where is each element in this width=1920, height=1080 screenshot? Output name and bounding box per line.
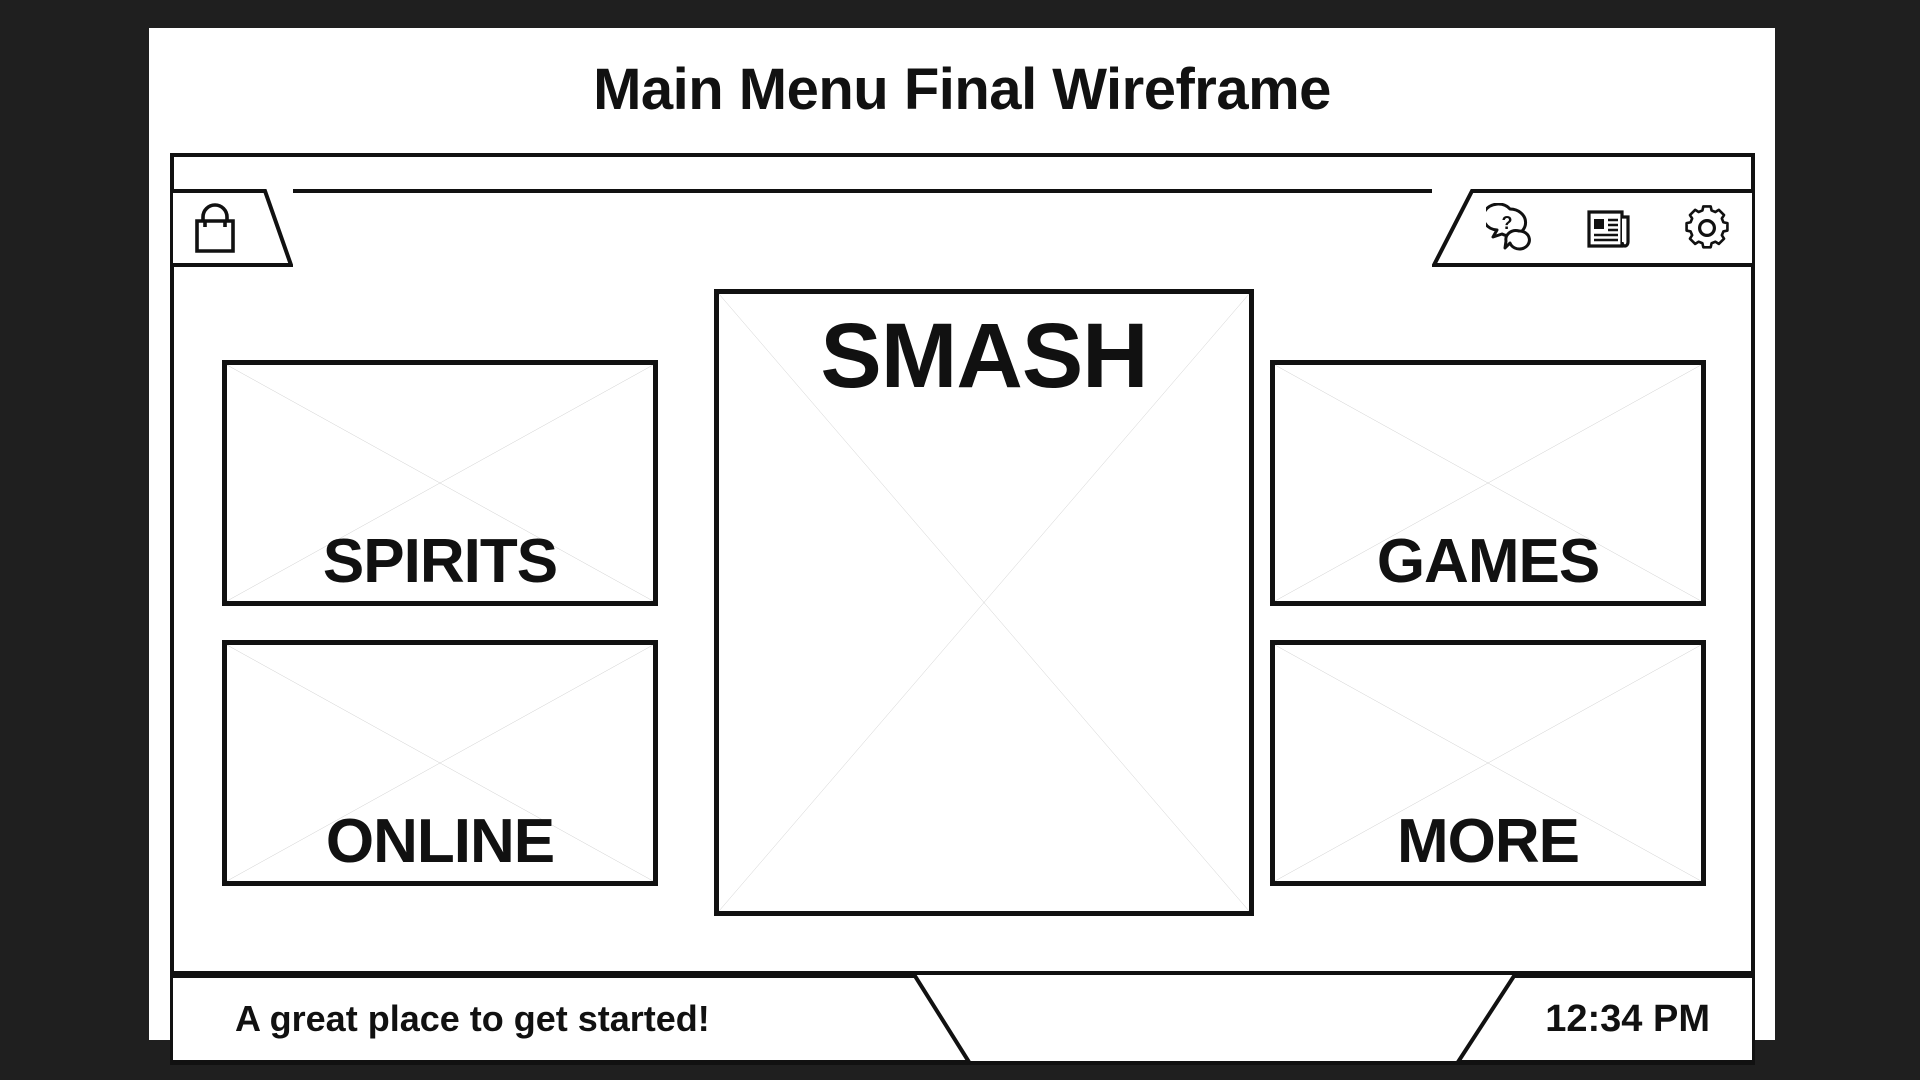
menu-tile-label: SPIRITS (227, 531, 653, 593)
bottom-bar: A great place to get started! 12:34 PM (174, 971, 1751, 1061)
screenshot-root: Main Menu Final Wireframe (0, 0, 1920, 1080)
wireframe-frame: ? (170, 153, 1755, 1065)
menu-tile-more[interactable]: MORE (1270, 640, 1706, 886)
top-bar (174, 157, 1751, 193)
menu-tile-spirits[interactable]: SPIRITS (222, 360, 658, 606)
page-sheet: Main Menu Final Wireframe (149, 28, 1775, 1040)
menu-tile-label: ONLINE (227, 811, 653, 873)
status-bar: A great place to get started! (173, 974, 973, 1064)
page-title: Main Menu Final Wireframe (149, 56, 1775, 123)
menu-tile-games[interactable]: GAMES (1270, 360, 1706, 606)
menu-tile-smash[interactable]: SMASH (714, 289, 1254, 916)
menu-content: SPIRITS ONLINE SMASH (174, 197, 1751, 1019)
menu-tile-label: SMASH (719, 310, 1249, 402)
menu-tile-online[interactable]: ONLINE (222, 640, 658, 886)
menu-tile-label: MORE (1275, 811, 1701, 873)
clock-bar: 12:34 PM (1452, 974, 1752, 1064)
clock-text: 12:34 PM (1545, 974, 1710, 1064)
status-text: A great place to get started! (235, 974, 710, 1064)
menu-tile-label: GAMES (1275, 531, 1701, 593)
